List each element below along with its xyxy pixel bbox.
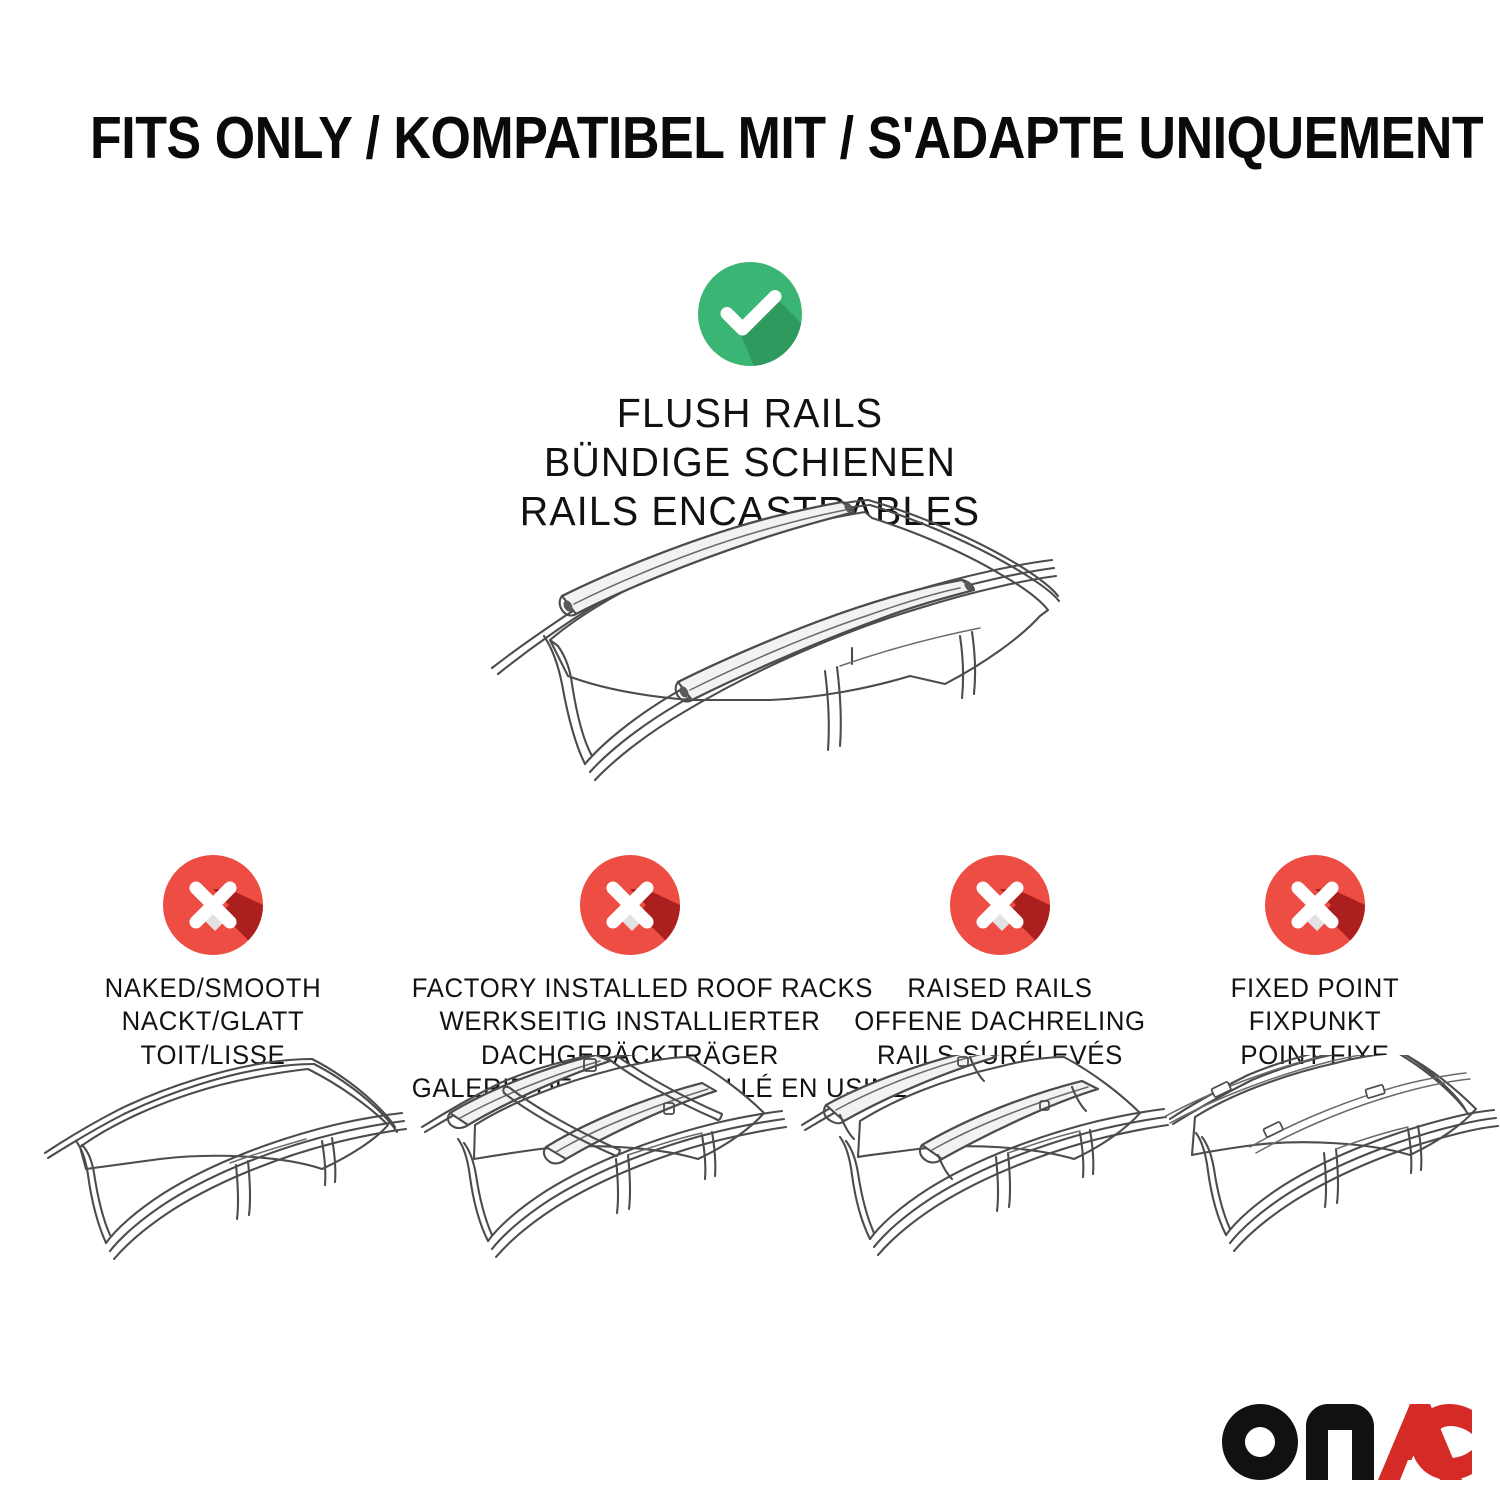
label-line-1: FIXED POINT [1170, 972, 1461, 1005]
label-line-2: FIXPUNKT [1170, 1005, 1461, 1038]
red-x-icon [163, 855, 263, 960]
label-line-1: RAISED RAILS [850, 972, 1151, 1005]
red-x-icon [580, 855, 680, 960]
car-roof-flush-rails-illustration [440, 488, 1060, 808]
incompatible-item-naked-smooth: NAKED/SMOOTH NACKT/GLATT TOIT/LISSE [63, 855, 363, 1072]
car-roof-raised-rails-illustration [800, 1055, 1180, 1305]
label-line-2: OFFENE DACHRELING [850, 1005, 1151, 1038]
green-check-icon [698, 262, 802, 371]
label-line-2: WERKSEITIG INSTALLIERTER [412, 1005, 849, 1038]
red-x-icon [950, 855, 1050, 960]
incompatible-item-raised-rails: RAISED RAILS OFFENE DACHRELING RAILS SUR… [845, 855, 1155, 1072]
page-title: FITS ONLY / KOMPATIBEL MIT / S'ADAPTE UN… [90, 104, 1410, 172]
car-roof-fixed-point-illustration [1140, 1055, 1500, 1305]
logo-letter-m [1306, 1404, 1374, 1480]
car-roof-naked-smooth-illustration [40, 1055, 420, 1305]
logo-letter-o [1222, 1404, 1298, 1480]
label-line-2: NACKT/GLATT [68, 1005, 359, 1038]
label-line-1: FACTORY INSTALLED ROOF RACKS [412, 972, 849, 1005]
red-x-icon [1265, 855, 1365, 960]
car-roof-factory-roof-racks-illustration [420, 1055, 800, 1305]
omac-logo [1222, 1404, 1472, 1482]
incompatible-item-fixed-point: FIXED POINT FIXPUNKT POINT FIXE [1165, 855, 1465, 1072]
compatible-label-line-1: FLUSH RAILS [270, 389, 1230, 438]
fitment-compatibility-infographic: FITS ONLY / KOMPATIBEL MIT / S'ADAPTE UN… [0, 0, 1500, 1500]
label-line-1: NAKED/SMOOTH [68, 972, 359, 1005]
compatible-label-line-2: BÜNDIGE SCHIENEN [270, 438, 1230, 487]
